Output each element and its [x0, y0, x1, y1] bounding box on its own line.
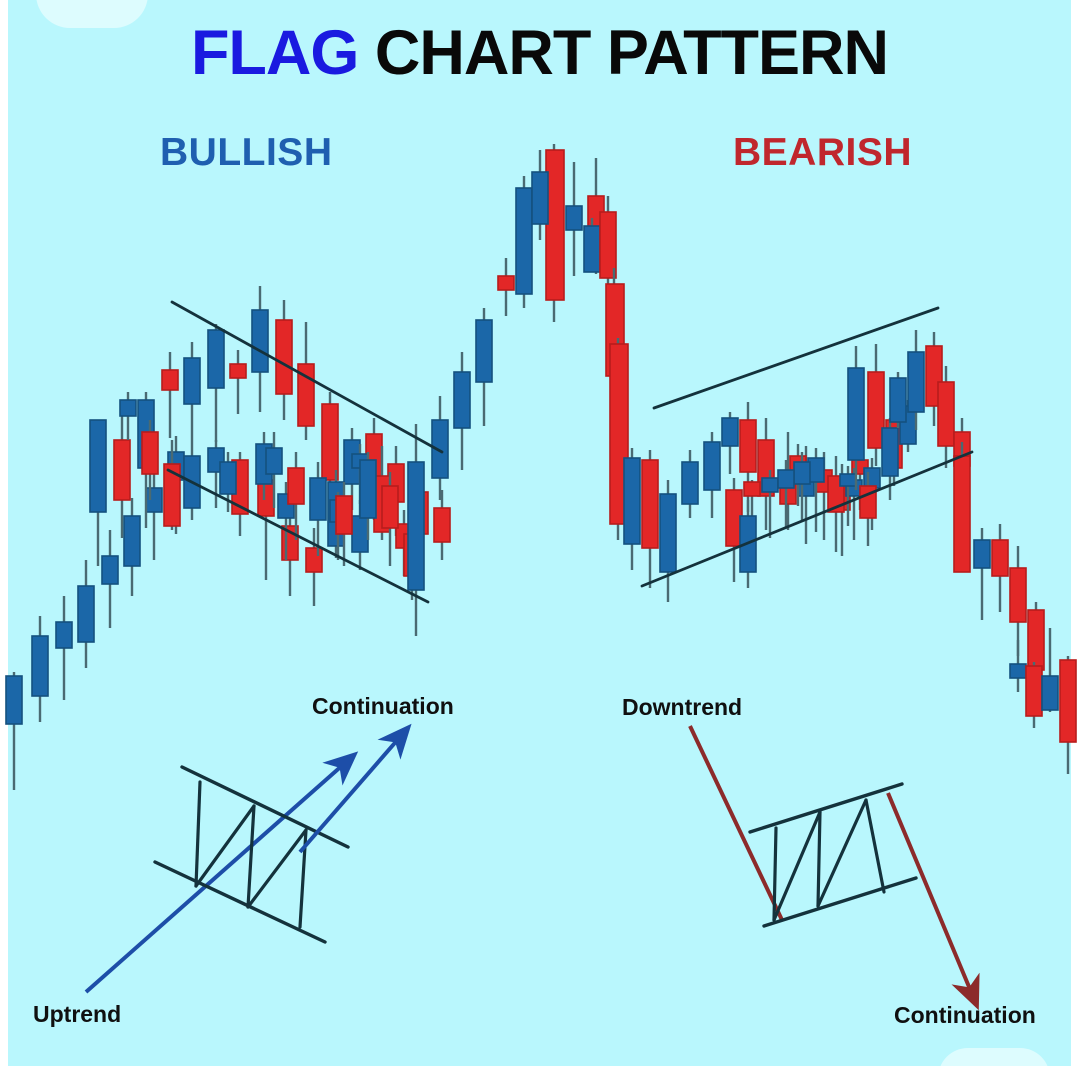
bullish-flag-zigzag-3 [248, 806, 254, 907]
candle-up [762, 470, 778, 538]
candle-up [56, 596, 72, 700]
candle-up [32, 616, 48, 722]
candle-up [1010, 640, 1026, 692]
bearish-flag-lower-boundary [764, 878, 916, 926]
bearish-flag-zigzag-5 [866, 800, 884, 892]
continuation-breakout-arrow [300, 737, 400, 852]
candle-up [624, 448, 640, 570]
downtrend-pole-arrow [690, 726, 782, 920]
candle-down [1026, 662, 1042, 728]
candle-up [682, 450, 698, 518]
bearish-flag-zigzag-4 [818, 800, 866, 906]
candle-up [660, 480, 676, 602]
candle-up [184, 342, 200, 452]
candle-up [146, 470, 162, 560]
candle-down [546, 144, 564, 322]
candle-down [992, 524, 1008, 612]
bullish-flag-zigzag-2 [196, 806, 254, 886]
candle-down [758, 418, 774, 530]
bearish-flag-schematic [690, 726, 972, 994]
candle-down [434, 490, 450, 560]
bearish-flag-upper-boundary [750, 784, 902, 832]
bearish-flag-zigzag-2 [774, 812, 820, 920]
candle-up [566, 162, 582, 276]
candle-down [306, 528, 322, 606]
candle-down [954, 442, 970, 572]
candle-down [230, 350, 246, 414]
candle-down [642, 450, 658, 588]
candle-down [498, 258, 514, 316]
candle-down [382, 472, 398, 566]
bearish-flag-zigzag-1 [774, 828, 776, 920]
candle-up [890, 372, 906, 428]
bullish-flag-zigzag-1 [196, 782, 200, 886]
candle-down [1060, 656, 1076, 774]
candle-up [722, 412, 738, 474]
candle-up [208, 324, 224, 442]
bearish-continuation-breakdown-arrow [888, 793, 972, 994]
candle-down [1010, 546, 1026, 656]
candle-up [408, 424, 424, 636]
bullish-flag-lower-boundary [155, 862, 325, 942]
bearish-flag-zigzag-3 [818, 812, 820, 906]
downtrend-label: Downtrend [622, 696, 742, 719]
uptrend-pole-arrow [86, 763, 345, 992]
bearish-continuation-label: Continuation [894, 1004, 1036, 1027]
bullish-flag-schematic [86, 737, 400, 992]
candle-down [162, 352, 178, 438]
candle-up [584, 218, 600, 272]
uptrend-label: Uptrend [33, 1003, 121, 1026]
candlestick-chart-layer [0, 0, 1079, 1066]
candle-up [102, 530, 118, 628]
candle-up [974, 528, 990, 620]
candle-up [78, 560, 94, 668]
candle-up [516, 176, 532, 308]
candle-up [6, 672, 22, 790]
candle-up [476, 308, 492, 426]
flag-chart-pattern-infographic: FLAG CHART PATTERN BULLISH BEARISH [0, 0, 1079, 1066]
bullish-candlestick-series [6, 144, 604, 790]
candle-down [938, 366, 954, 468]
candle-up [704, 432, 720, 518]
candle-up [124, 498, 140, 596]
candle-up [90, 420, 106, 566]
bullish-continuation-label: Continuation [312, 695, 454, 718]
candle-up [454, 352, 470, 470]
